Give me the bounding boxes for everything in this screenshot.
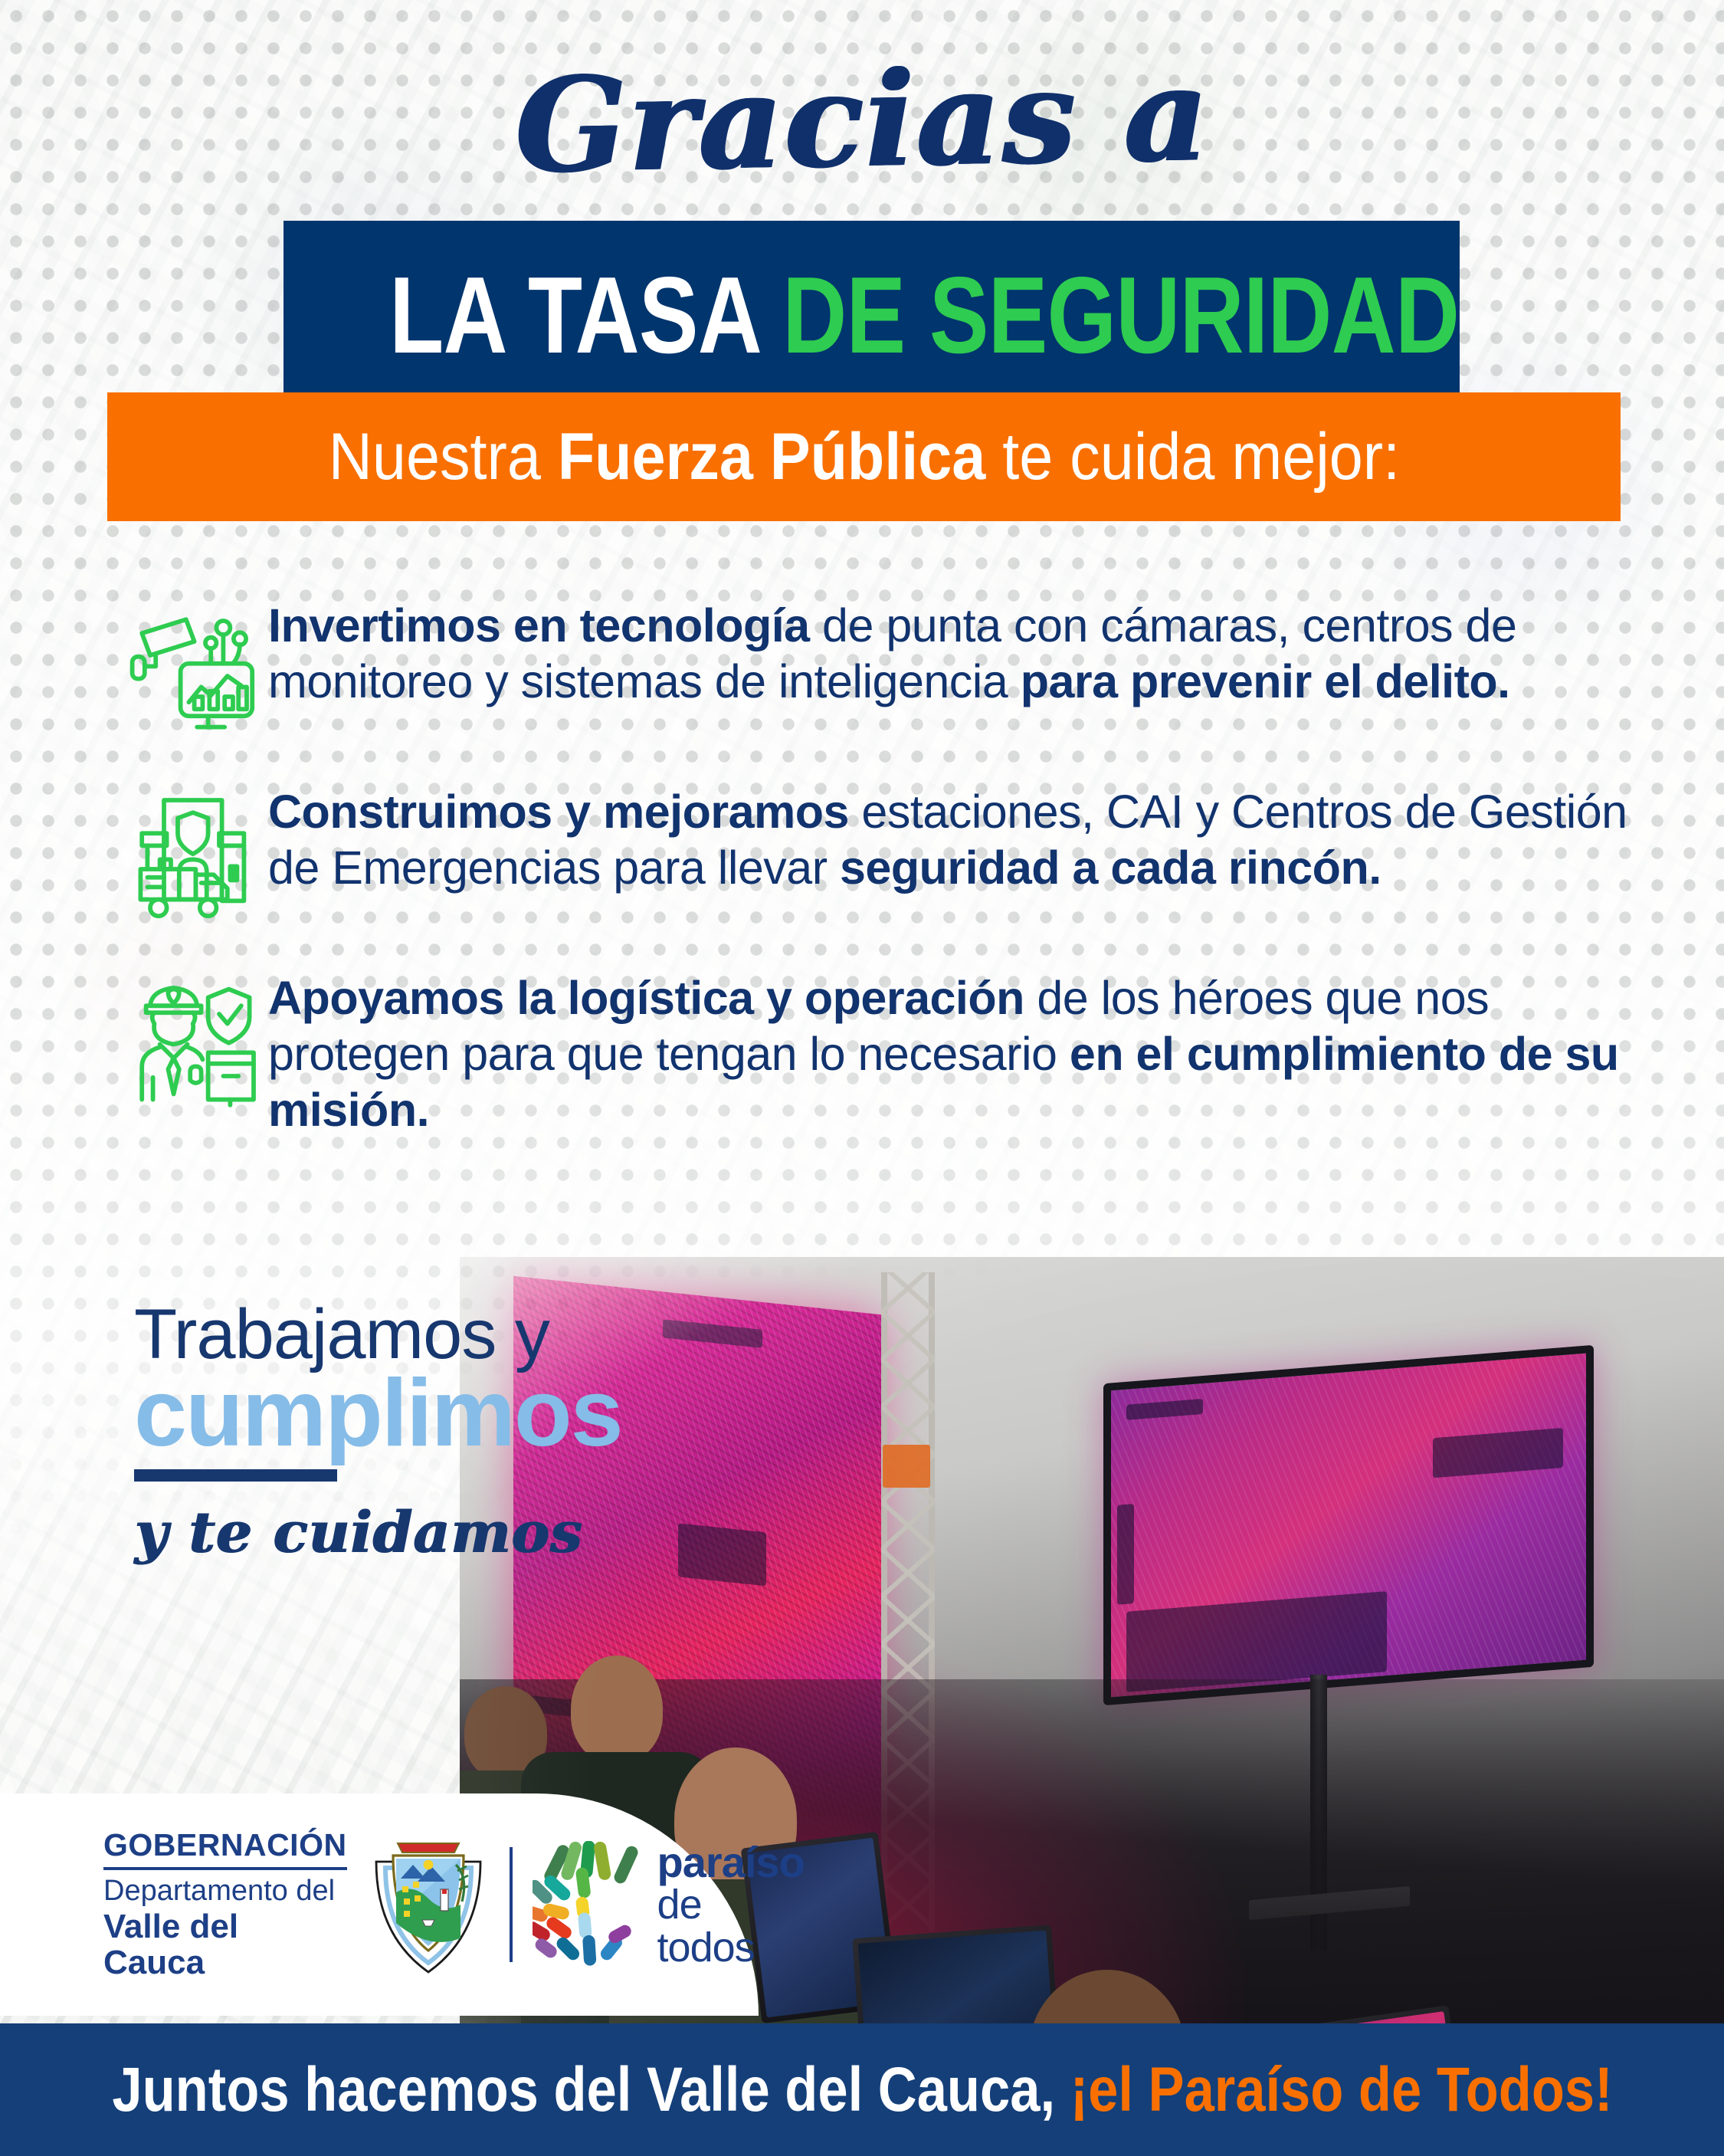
paraiso-de-todos-logo: paraíso de todos [533, 1840, 807, 1968]
headline-navy-box: LA TASA DE SEGURIDAD [284, 221, 1460, 411]
bottom-banner-white-text: Juntos hacemos del Valle del Cauca, [112, 2055, 1070, 2125]
bullet-2-period: . [1368, 842, 1381, 894]
subheadline-orange-bar: Nuestra Fuerza Pública te cuida mejor: [107, 392, 1621, 521]
bullet-1-bold-tail: para prevenir el delito [1021, 655, 1497, 707]
slogan-line-3: y te cuidamos [134, 1505, 716, 1561]
slogan-line-2: cumplimos [134, 1365, 716, 1462]
slogan-block: Trabajamos y cumplimos y te cuidamos [134, 1299, 716, 1561]
gobernacion-line-2: Departamento del [103, 1875, 347, 1907]
bottom-banner-orange-text: ¡el Paraíso de Todos! [1070, 2055, 1612, 2125]
bullet-3-period: . [417, 1084, 429, 1136]
logo-divider [510, 1847, 513, 1962]
bullet-1-bold-lead: Invertimos en tecnología [268, 599, 810, 651]
gobernacion-wordmark: GOBERNACIÓN Departamento del Valle del C… [103, 1828, 347, 1980]
headline-green-text: DE SEGURIDAD [782, 254, 1459, 376]
bottom-banner: Juntos hacemos del Valle del Cauca, ¡el … [0, 2023, 1724, 2156]
list-item: Apoyamos la logística y operación de los… [115, 963, 1632, 1139]
valle-del-cauca-coat-of-arms-icon [367, 1828, 490, 1981]
paraiso-line-1: paraíso [657, 1840, 807, 1884]
bullet-3-bold-lead: Apoyamos la logística y operación [268, 972, 1024, 1024]
paraiso-line-2: de todos [657, 1884, 807, 1968]
bullet-2-bold-lead: Construimos y mejoramos [268, 786, 849, 838]
subheadline-post-text: te cuida mejor: [985, 420, 1400, 494]
benefits-list: Invertimos en tecnología de punta con cá… [115, 590, 1632, 1168]
gobernacion-line-1: GOBERNACIÓN [103, 1828, 347, 1862]
bullet-2-bold-tail: seguridad a cada rincón [840, 842, 1368, 894]
gobernacion-rule [103, 1867, 347, 1870]
bullet-1-period: . [1497, 655, 1509, 707]
subheadline-bold-text: Fuerza Pública [557, 420, 985, 494]
poster-root: Gracias a LA TASA DE SEGURIDAD Nuestra F… [0, 0, 1724, 2156]
headline-white-text: LA TASA [389, 254, 759, 376]
logo-footer-panel: GOBERNACIÓN Departamento del Valle del C… [0, 1793, 759, 2016]
subheadline-pre-text: Nuestra [328, 420, 557, 494]
list-item: Construimos y mejoramos estaciones, CAI … [115, 776, 1632, 934]
slogan-line-1: Trabajamos y [134, 1299, 716, 1370]
police-officer-shield-icon [115, 963, 268, 1120]
gobernacion-line-3: Valle del Cauca [103, 1908, 347, 1981]
slogan-underline-rule [134, 1469, 337, 1482]
police-station-vehicle-icon [115, 776, 268, 934]
paraiso-petals-icon [533, 1841, 645, 1967]
list-item: Invertimos en tecnología de punta con cá… [115, 590, 1632, 747]
security-camera-monitor-icon [115, 590, 268, 747]
